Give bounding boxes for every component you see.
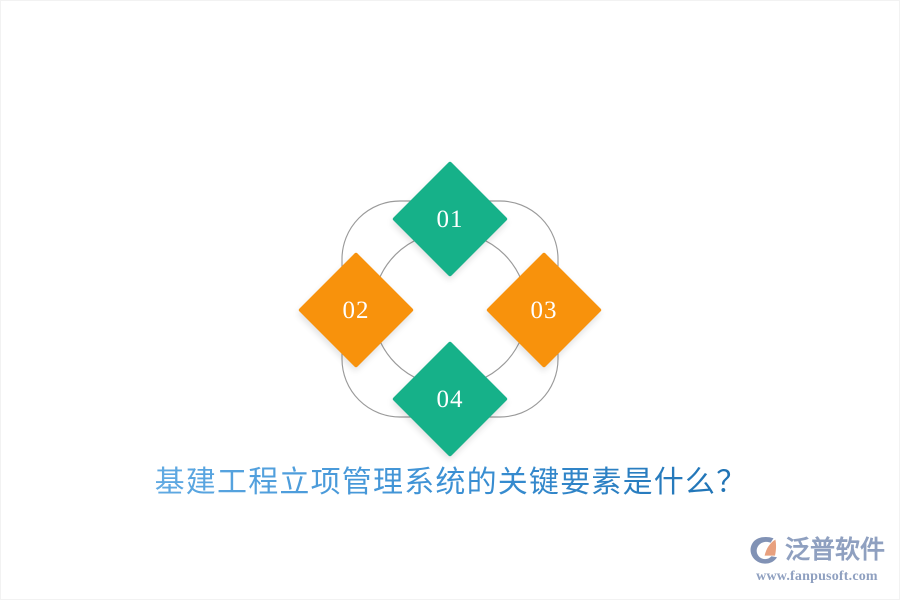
brand-row: 泛普软件 bbox=[749, 533, 885, 567]
brand-url: www.fanpusoft.com bbox=[749, 569, 885, 585]
fanpu-logo-icon bbox=[749, 535, 783, 565]
four-element-diagram: 01 02 03 04 bbox=[270, 141, 630, 471]
brand-watermark: 泛普软件 www.fanpusoft.com bbox=[749, 533, 885, 589]
slide-canvas: 01 02 03 04 基建工程立项管理系统的关键要素是什么？ 泛普软件 www… bbox=[0, 0, 900, 600]
page-title: 基建工程立项管理系统的关键要素是什么？ bbox=[1, 463, 900, 504]
brand-name: 泛普软件 bbox=[785, 538, 885, 563]
